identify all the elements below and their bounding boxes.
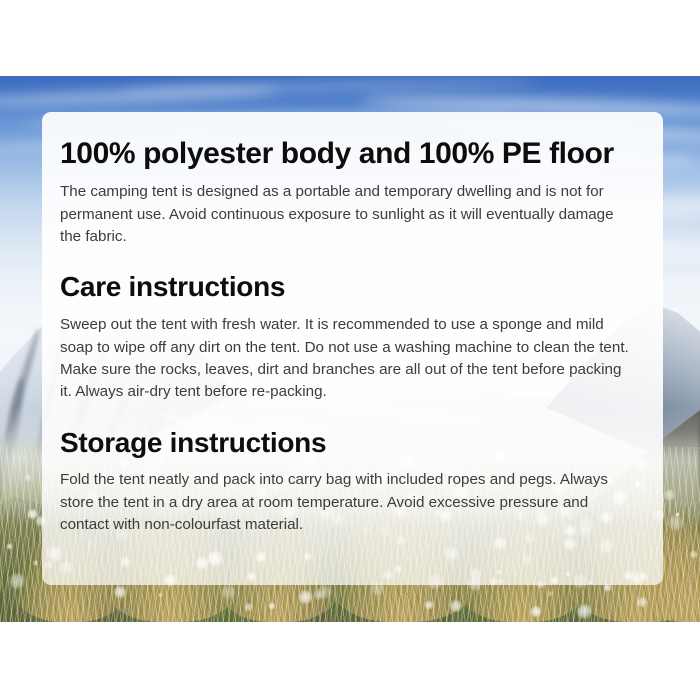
storage-instructions-heading: Storage instructions [60, 428, 633, 459]
seedhead-puff [530, 605, 542, 617]
storage-instructions-body: Fold the tent neatly and pack into carry… [60, 469, 632, 536]
seedhead-puff [576, 603, 592, 619]
seedhead-puff [316, 584, 333, 601]
info-card: 100% polyester body and 100% PE floor Th… [42, 112, 663, 585]
intro-paragraph: The camping tent is designed as a portab… [60, 181, 632, 248]
seedhead-puff [298, 589, 314, 605]
seedhead-puff [6, 543, 13, 550]
seedhead-puff [32, 560, 39, 567]
care-instructions-body: Sweep out the tent with fresh water. It … [60, 314, 632, 403]
product-info-banner: 100% polyester body and 100% PE floor Th… [0, 0, 700, 700]
seedhead-puff [663, 489, 675, 501]
seedhead-puff [424, 600, 434, 610]
storage-instructions-section: Storage instructions Fold the tent neatl… [60, 428, 633, 537]
seedhead-puff [158, 592, 164, 598]
seedhead-puff [113, 585, 127, 599]
care-instructions-section: Care instructions Sweep out the tent wit… [60, 272, 633, 403]
seedhead-puff [24, 473, 32, 481]
seedhead-puff [220, 584, 236, 600]
seedhead-puff [268, 602, 276, 610]
seedhead-puff [27, 508, 38, 519]
page-title: 100% polyester body and 100% PE floor [60, 138, 633, 170]
seedhead-puff [8, 572, 26, 590]
seedhead-puff [689, 550, 697, 558]
care-instructions-heading: Care instructions [60, 272, 633, 303]
